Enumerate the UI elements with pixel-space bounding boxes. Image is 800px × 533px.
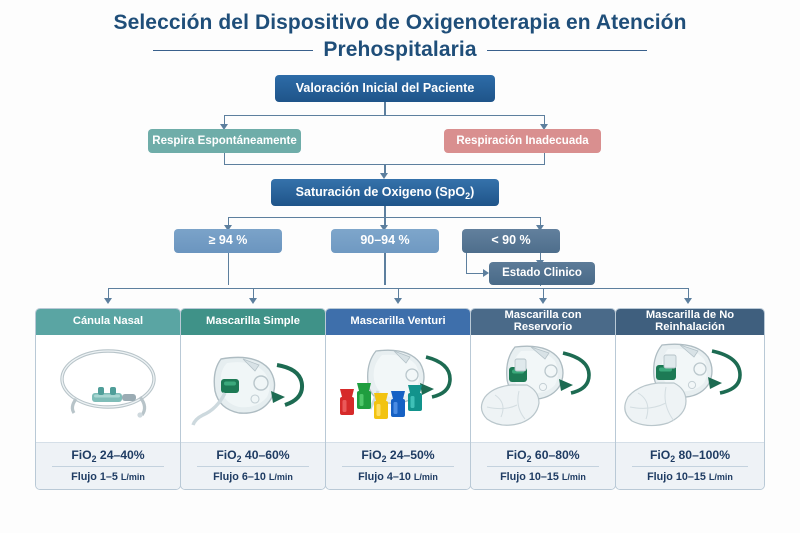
- flujo-value: Flujo 1–5 L/min: [40, 471, 176, 483]
- title-line-2: Prehospitalaria: [323, 37, 476, 63]
- device-card-nasal-cannula[interactable]: Cánula Nasal FiO2 24–40% Flujo 1–5 L/min: [35, 308, 181, 490]
- node-oxygen-saturation-label: Saturación de Oxigeno (SpO2): [296, 186, 475, 200]
- node-breathes-spontaneously-label: Respira Espontáneamente: [152, 135, 296, 148]
- node-spo2-ge-94[interactable]: ≥ 94 %: [174, 229, 282, 253]
- title-line-2-row: Prehospitalaria: [0, 37, 800, 63]
- flujo-value: Flujo 6–10 L/min: [185, 471, 321, 483]
- footer-divider: [632, 466, 748, 467]
- footer-divider: [487, 466, 599, 467]
- arrow-to-card-4: [539, 298, 547, 304]
- connector-mid-down: [384, 253, 385, 285]
- footer-divider: [197, 466, 309, 467]
- footer-divider: [342, 466, 454, 467]
- connector-split-bus: [224, 115, 545, 116]
- title-line-1: Selección del Dispositivo de Oxigenotera…: [0, 10, 800, 36]
- node-breathes-spontaneously[interactable]: Respira Espontáneamente: [148, 129, 301, 153]
- flujo-value: Flujo 10–15 L/min: [620, 471, 760, 483]
- non-rebreather-mask-icon: [616, 335, 764, 442]
- device-card-header: Mascarilla Venturi: [326, 309, 470, 335]
- connector-root-down: [384, 102, 385, 116]
- infographic-canvas: Selección del Dispositivo de Oxigenotera…: [0, 0, 800, 533]
- node-clinical-state[interactable]: Estado Clinico: [489, 262, 595, 285]
- device-card-header: Mascarilla de No Reinhalación: [616, 309, 764, 335]
- connector-low-elbow-right: [466, 273, 484, 274]
- device-card-footer: FiO2 40–60% Flujo 6–10 L/min: [181, 442, 325, 489]
- reservoir-mask-icon: [471, 335, 615, 442]
- device-card-footer: FiO2 80–100% Flujo 10–15 L/min: [616, 442, 764, 489]
- node-inadequate-breathing[interactable]: Respiración Inadecuada: [444, 129, 601, 153]
- fio2-value: FiO2 80–100%: [620, 448, 760, 466]
- device-card-footer: FiO2 24–40% Flujo 1–5 L/min: [36, 442, 180, 489]
- arrow-to-card-1: [104, 298, 112, 304]
- node-spo2-lt-90-label: < 90 %: [491, 234, 530, 248]
- device-card-venturi-mask[interactable]: Mascarilla Venturi: [325, 308, 471, 490]
- node-spo2-90-94-label: 90–94 %: [360, 234, 409, 248]
- fio2-value: FiO2 24–50%: [330, 448, 466, 466]
- node-initial-assessment[interactable]: Valoración Inicial del Paciente: [275, 75, 495, 102]
- title-rule-right: [487, 50, 647, 51]
- venturi-mask-icon: [326, 335, 470, 442]
- node-spo2-90-94[interactable]: 90–94 %: [331, 229, 439, 253]
- node-clinical-state-label: Estado Clinico: [502, 267, 582, 280]
- device-card-footer: FiO2 24–50% Flujo 4–10 L/min: [326, 442, 470, 489]
- device-card-reservoir-mask[interactable]: Mascarilla con Reservorio FiO2 60–80% Fl…: [470, 308, 616, 490]
- arrow-to-card-3: [394, 298, 402, 304]
- node-spo2-ge-94-label: ≥ 94 %: [209, 234, 248, 248]
- flujo-value: Flujo 4–10 L/min: [330, 471, 466, 483]
- fio2-value: FiO2 24–40%: [40, 448, 176, 466]
- arrow-to-card-5: [684, 298, 692, 304]
- fio2-value: FiO2 40–60%: [185, 448, 321, 466]
- node-initial-assessment-label: Valoración Inicial del Paciente: [296, 82, 475, 96]
- device-card-header: Mascarilla con Reservorio: [471, 309, 615, 335]
- device-card-simple-mask[interactable]: Mascarilla Simple FiO2 40–60% Flujo 6–10…: [180, 308, 326, 490]
- saturation-subscript: 2: [465, 191, 470, 201]
- device-card-footer: FiO2 60–80% Flujo 10–15 L/min: [471, 442, 615, 489]
- nasal-cannula-icon: [36, 335, 180, 442]
- footer-divider: [52, 466, 164, 467]
- node-spo2-lt-90[interactable]: < 90 %: [462, 229, 560, 253]
- device-card-header: Mascarilla Simple: [181, 309, 325, 335]
- connector-estado-down: [540, 285, 541, 286]
- device-card-header: Cánula Nasal: [36, 309, 180, 335]
- simple-mask-icon: [181, 335, 325, 442]
- fio2-value: FiO2 60–80%: [475, 448, 611, 466]
- arrow-to-card-2: [249, 298, 257, 304]
- flujo-value: Flujo 10–15 L/min: [475, 471, 611, 483]
- device-card-non-rebreather-mask[interactable]: Mascarilla de No Reinhalación FiO2 80–10…: [615, 308, 765, 490]
- page-title: Selección del Dispositivo de Oxigenotera…: [0, 10, 800, 63]
- title-rule-left: [153, 50, 313, 51]
- node-inadequate-breathing-label: Respiración Inadecuada: [456, 135, 588, 148]
- connector-low-elbow-down: [466, 253, 467, 274]
- node-oxygen-saturation[interactable]: Saturación de Oxigeno (SpO2): [271, 179, 499, 206]
- connector-high-down: [228, 253, 229, 285]
